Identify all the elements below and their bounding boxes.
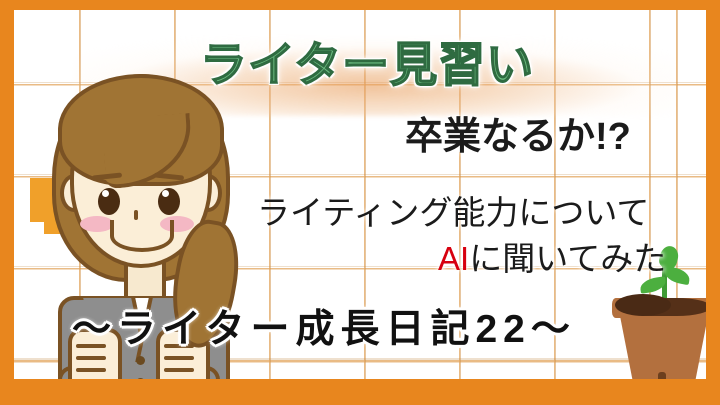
detail-line-2-rest: に聞いてみた: [469, 240, 666, 277]
blush-left: [80, 216, 114, 232]
pot-drain-hole: [658, 372, 666, 379]
nose: [134, 210, 138, 220]
series-title-text: 〜ライター成長日記22〜: [72, 310, 576, 349]
mouth-smile: [110, 220, 174, 252]
youtube-thumbnail: ライター見習い 卒業なるか!? ライティング能力について AIに聞いてみた 〜ラ…: [0, 0, 720, 405]
paper-card: ライター見習い 卒業なるか!? ライティング能力について AIに聞いてみた 〜ラ…: [14, 10, 706, 379]
ai-accent-text: AI: [438, 240, 469, 277]
pot-soil-mound: [615, 294, 671, 316]
eye-glint-left: [102, 190, 109, 197]
pot-body: [620, 316, 706, 379]
potted-sprout-icon: [612, 272, 706, 379]
detail-line-1: ライティング能力について: [257, 196, 649, 229]
jacket-button: [136, 356, 145, 365]
detail-line-2: AIに聞いてみた: [438, 242, 666, 275]
headline-text: ライター見習い: [200, 41, 534, 88]
eye-glint-right: [162, 190, 169, 197]
subheadline-text: 卒業なるか!?: [405, 118, 631, 156]
